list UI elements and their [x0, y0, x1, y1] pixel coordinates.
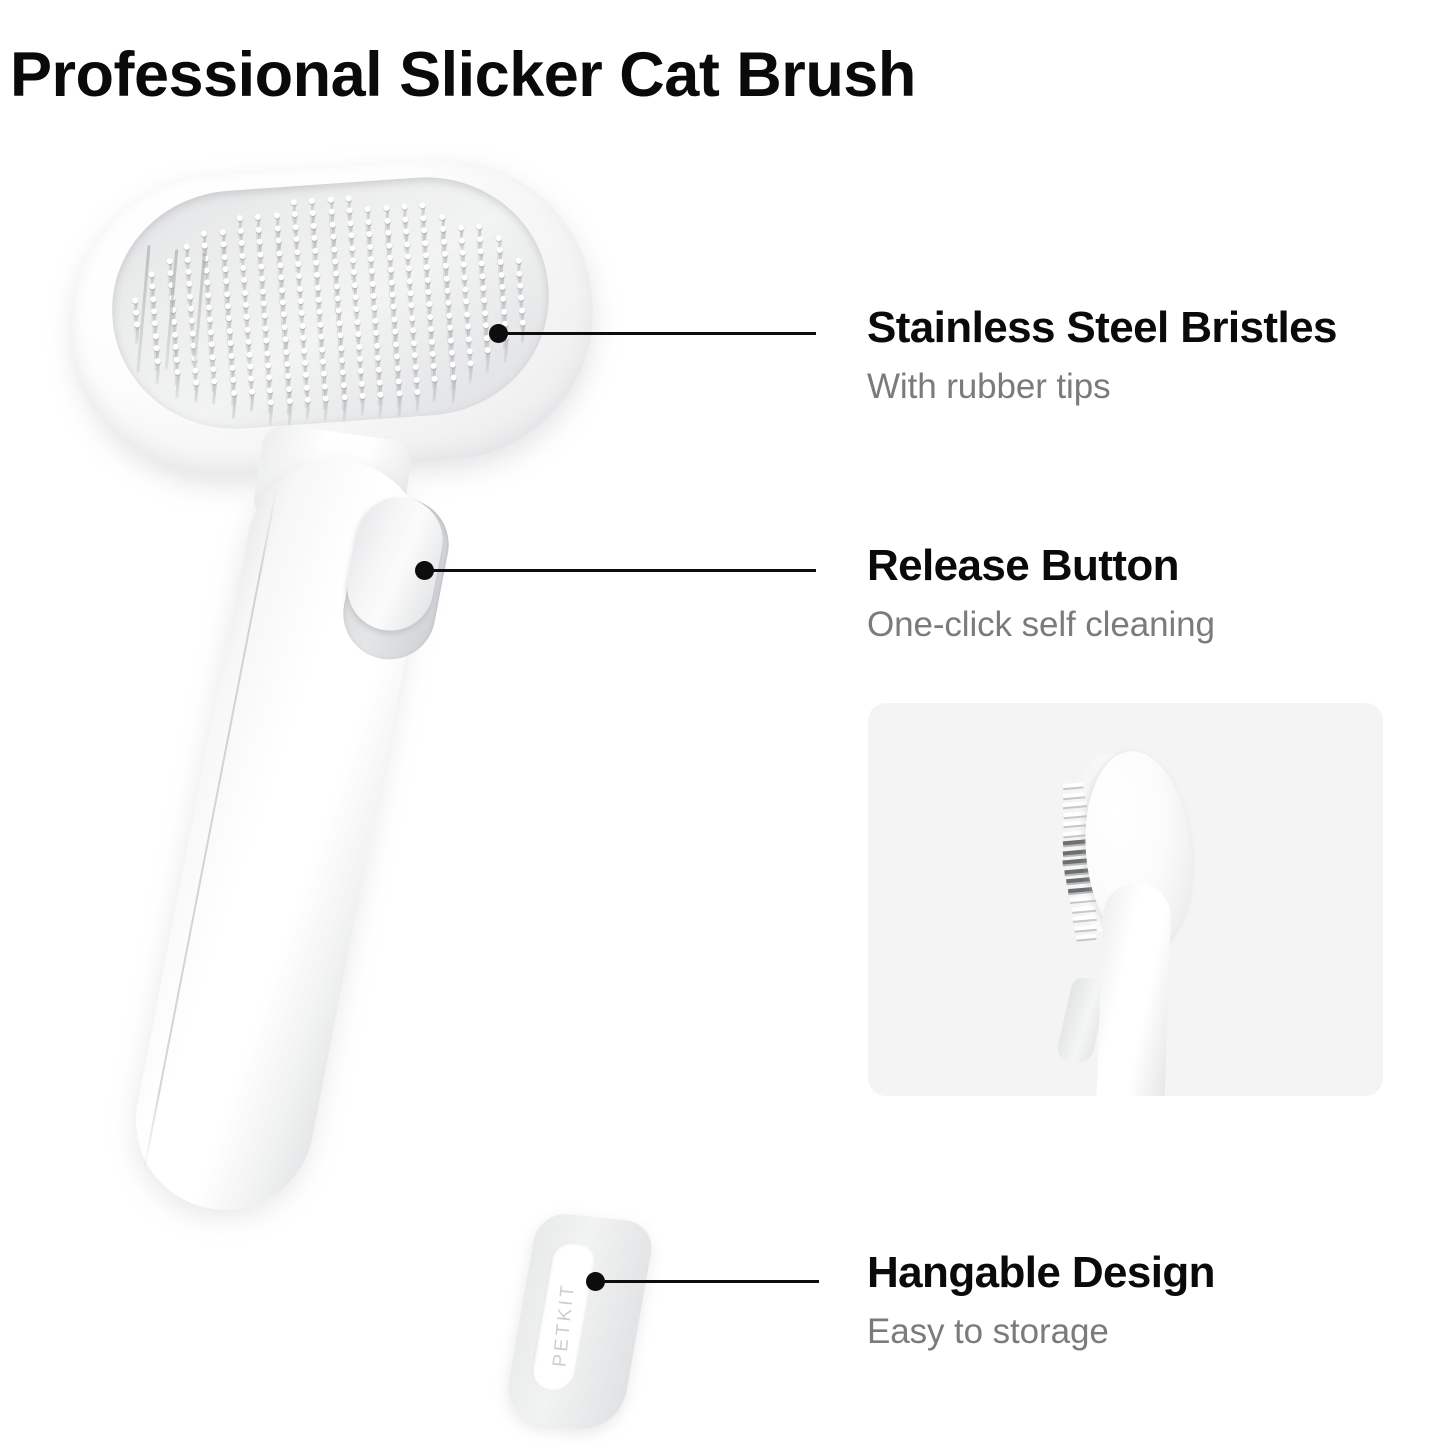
bristle-rubber-tip — [299, 323, 305, 329]
bristle-rubber-tip — [284, 361, 290, 367]
bristle-rubber-tip — [227, 340, 233, 346]
bristle-rubber-tip — [338, 357, 344, 363]
bristle-rubber-tip — [278, 287, 284, 293]
bristle-rubber-tip — [155, 357, 161, 363]
bristle-rubber-tip — [499, 284, 505, 290]
bristle-rubber-tip — [226, 328, 232, 334]
bristle-rubber-tip — [221, 254, 227, 260]
edge-bristle — [136, 245, 150, 373]
inset-bristle-row — [1072, 905, 1096, 911]
bristle-rubber-tip — [386, 254, 392, 260]
bristle-rubber-tip — [219, 229, 225, 235]
bristle-rubber-tip — [283, 349, 289, 355]
product-illustration: PETKIT — [0, 0, 880, 1447]
bristle-rubber-tip — [330, 234, 336, 240]
inset-bristle-row — [1063, 792, 1085, 798]
bristle-rubber-tip — [461, 274, 467, 280]
bristle-rubber-tip — [312, 247, 318, 253]
bristle-rubber-tip — [392, 329, 398, 335]
leader-line-release — [426, 569, 816, 572]
bristle-rubber-tip — [448, 349, 454, 355]
bristle-rubber-tip — [396, 390, 402, 396]
bristle-rubber-tip — [277, 262, 283, 268]
bristle-rubber-tip — [496, 247, 502, 253]
bristle-rubber-tip — [356, 343, 362, 349]
bristle-rubber-tip — [187, 293, 193, 299]
bristle-rubber-tip — [152, 320, 158, 326]
bristle-rubber-tip — [229, 365, 235, 371]
bristle-rubber-tip — [282, 336, 288, 342]
bristle-rubber-tip — [374, 342, 380, 348]
bristle-rubber-tip — [464, 311, 470, 317]
bristle-rubber-tip — [297, 286, 303, 292]
bristle-rubber-tip — [386, 242, 392, 248]
inset-detail-panel — [868, 703, 1383, 1096]
bristle-rubber-tip — [171, 332, 177, 338]
bristle-rubber-tip — [395, 378, 401, 384]
bristle-pad — [104, 169, 557, 437]
callout-title-bristles: Stainless Steel Bristles — [867, 303, 1437, 352]
callout-release: Release Button One-click self cleaning — [867, 541, 1437, 646]
bristle-rubber-tip — [262, 313, 268, 319]
bristle — [212, 381, 217, 404]
bristle — [194, 383, 199, 403]
bristle-rubber-tip — [220, 241, 226, 247]
bristle-rubber-tip — [279, 299, 285, 305]
callout-hangable: Hangable Design Easy to storage — [867, 1248, 1437, 1353]
leader-line-hangable — [597, 1280, 819, 1283]
bristle-rubber-tip — [174, 369, 180, 375]
inset-bristle-row — [1076, 934, 1096, 940]
bristle-rubber-tip — [224, 291, 230, 297]
bristle-rubber-tip — [172, 344, 178, 350]
bristle-rubber-tip — [429, 338, 435, 344]
callout-bristles: Stainless Steel Bristles With rubber tip… — [867, 303, 1437, 408]
bristle-rubber-tip — [331, 246, 337, 252]
bristle-rubber-tip — [337, 332, 343, 338]
bristle-rubber-tip — [440, 226, 446, 232]
bristle-rubber-tip — [264, 350, 270, 356]
bristle-rubber-tip — [477, 236, 483, 242]
bristle-rubber-tip — [444, 288, 450, 294]
bristle-rubber-tip — [439, 214, 445, 220]
callout-subtitle-hangable: Easy to storage — [867, 1311, 1437, 1353]
bristle-rubber-tip — [441, 251, 447, 257]
bristle-rubber-tip — [516, 270, 522, 276]
bristle-rubber-tip — [446, 312, 452, 318]
bristle-rubber-tip — [389, 291, 395, 297]
bristle-rubber-tip — [459, 237, 465, 243]
bristle-rubber-tip — [365, 206, 371, 212]
bristle-rubber-tip — [354, 319, 360, 325]
bristle-rubber-tip — [495, 234, 501, 240]
bristle-rubber-tip — [391, 316, 397, 322]
bristle — [433, 378, 438, 401]
bristle-rubber-tip — [406, 278, 412, 284]
bristle-rubber-tip — [402, 216, 408, 222]
bristle-rubber-tip — [230, 389, 236, 395]
callout-subtitle-bristles: With rubber tips — [867, 366, 1437, 408]
bristle-rubber-tip — [274, 225, 280, 231]
bristle-rubber-tip — [132, 297, 138, 303]
callout-title-hangable: Hangable Design — [867, 1248, 1437, 1297]
bristle-rubber-tip — [292, 224, 298, 230]
bristle-rubber-tip — [184, 256, 190, 262]
bristle-rubber-tip — [352, 282, 358, 288]
bristle-rubber-tip — [340, 382, 346, 388]
inset-bristle-row — [1070, 896, 1096, 902]
bristle-rubber-tip — [224, 303, 230, 309]
bristle-rubber-tip — [338, 345, 344, 351]
bristle-rubber-tip — [385, 230, 391, 236]
callout-subtitle-release: One-click self cleaning — [867, 604, 1437, 646]
bristle-rubber-tip — [367, 243, 373, 249]
bristle-rubber-tip — [255, 214, 261, 220]
bristle-rubber-tip — [500, 308, 506, 314]
bristle-rubber-tip — [222, 266, 228, 272]
bristle — [468, 364, 473, 384]
bristle-rubber-tip — [388, 279, 394, 285]
edge-bristle — [193, 253, 206, 365]
bristle-rubber-tip — [413, 377, 419, 383]
bristle-rubber-tip — [238, 228, 244, 234]
bristle-rubber-tip — [450, 374, 456, 380]
bristle-rubber-tip — [440, 238, 446, 244]
bristle-rubber-tip — [443, 275, 449, 281]
bristle-rubber-tip — [276, 250, 282, 256]
callout-title-release: Release Button — [867, 541, 1437, 590]
bristle — [379, 395, 384, 418]
bristle-rubber-tip — [466, 336, 472, 342]
bristle-rubber-tip — [384, 217, 390, 223]
bristle-rubber-tip — [409, 315, 415, 321]
bristle-rubber-tip — [336, 320, 342, 326]
bristle-rubber-tip — [244, 326, 250, 332]
bristle-rubber-tip — [242, 289, 248, 295]
bristle-rubber-tip — [301, 347, 307, 353]
bristle-rubber-tip — [341, 394, 347, 400]
bristle-rubber-tip — [173, 356, 179, 362]
inset-bristle-row — [1063, 782, 1083, 788]
inset-bristle-row — [1072, 915, 1096, 921]
bristle-rubber-tip — [347, 220, 353, 226]
inset-bristle-row — [1063, 811, 1087, 817]
bristle-rubber-tip — [411, 340, 417, 346]
bristle-rubber-tip — [332, 258, 338, 264]
bristle — [156, 361, 161, 384]
bristle-rubber-tip — [281, 324, 287, 330]
bristle-rubber-tip — [319, 346, 325, 352]
bristle-rubber-tip — [498, 271, 504, 277]
bristle-rubber-tip — [519, 307, 525, 313]
bristle-rubber-tip — [285, 386, 291, 392]
bristle-rubber-tip — [294, 248, 300, 254]
bristle-rubber-tip — [286, 398, 292, 404]
bristle-rubber-tip — [228, 352, 234, 358]
bristle-rubber-tip — [246, 351, 252, 357]
bristle-rubber-tip — [392, 341, 398, 347]
bristle-rubber-tip — [210, 354, 216, 360]
bristle-rubber-tip — [166, 257, 172, 263]
bristle-rubber-tip — [372, 305, 378, 311]
bristle — [269, 402, 274, 425]
bristle-rubber-tip — [249, 388, 255, 394]
bristle-rubber-tip — [393, 353, 399, 359]
bristle-rubber-tip — [275, 237, 281, 243]
bristle — [324, 398, 329, 421]
bristle-rubber-tip — [334, 295, 340, 301]
bristle-rubber-tip — [447, 337, 453, 343]
bristle-rubber-tip — [329, 221, 335, 227]
bristle-rubber-tip — [446, 325, 452, 331]
bristle-rubber-tip — [404, 241, 410, 247]
inset-handle — [1096, 882, 1172, 1096]
inset-bristle-row — [1074, 924, 1096, 930]
bristle-rubber-tip — [349, 245, 355, 251]
bristle-rubber-tip — [258, 251, 264, 257]
inset-bristle-row — [1063, 801, 1087, 807]
bristle-rubber-tip — [327, 197, 333, 203]
bristle — [486, 350, 491, 373]
bristle-rubber-tip — [239, 252, 245, 258]
bristle-rubber-tip — [304, 384, 310, 390]
leader-line-bristles — [500, 332, 816, 335]
bristle-rubber-tip — [358, 380, 364, 386]
bristle-rubber-tip — [422, 240, 428, 246]
bristle-rubber-tip — [333, 283, 339, 289]
